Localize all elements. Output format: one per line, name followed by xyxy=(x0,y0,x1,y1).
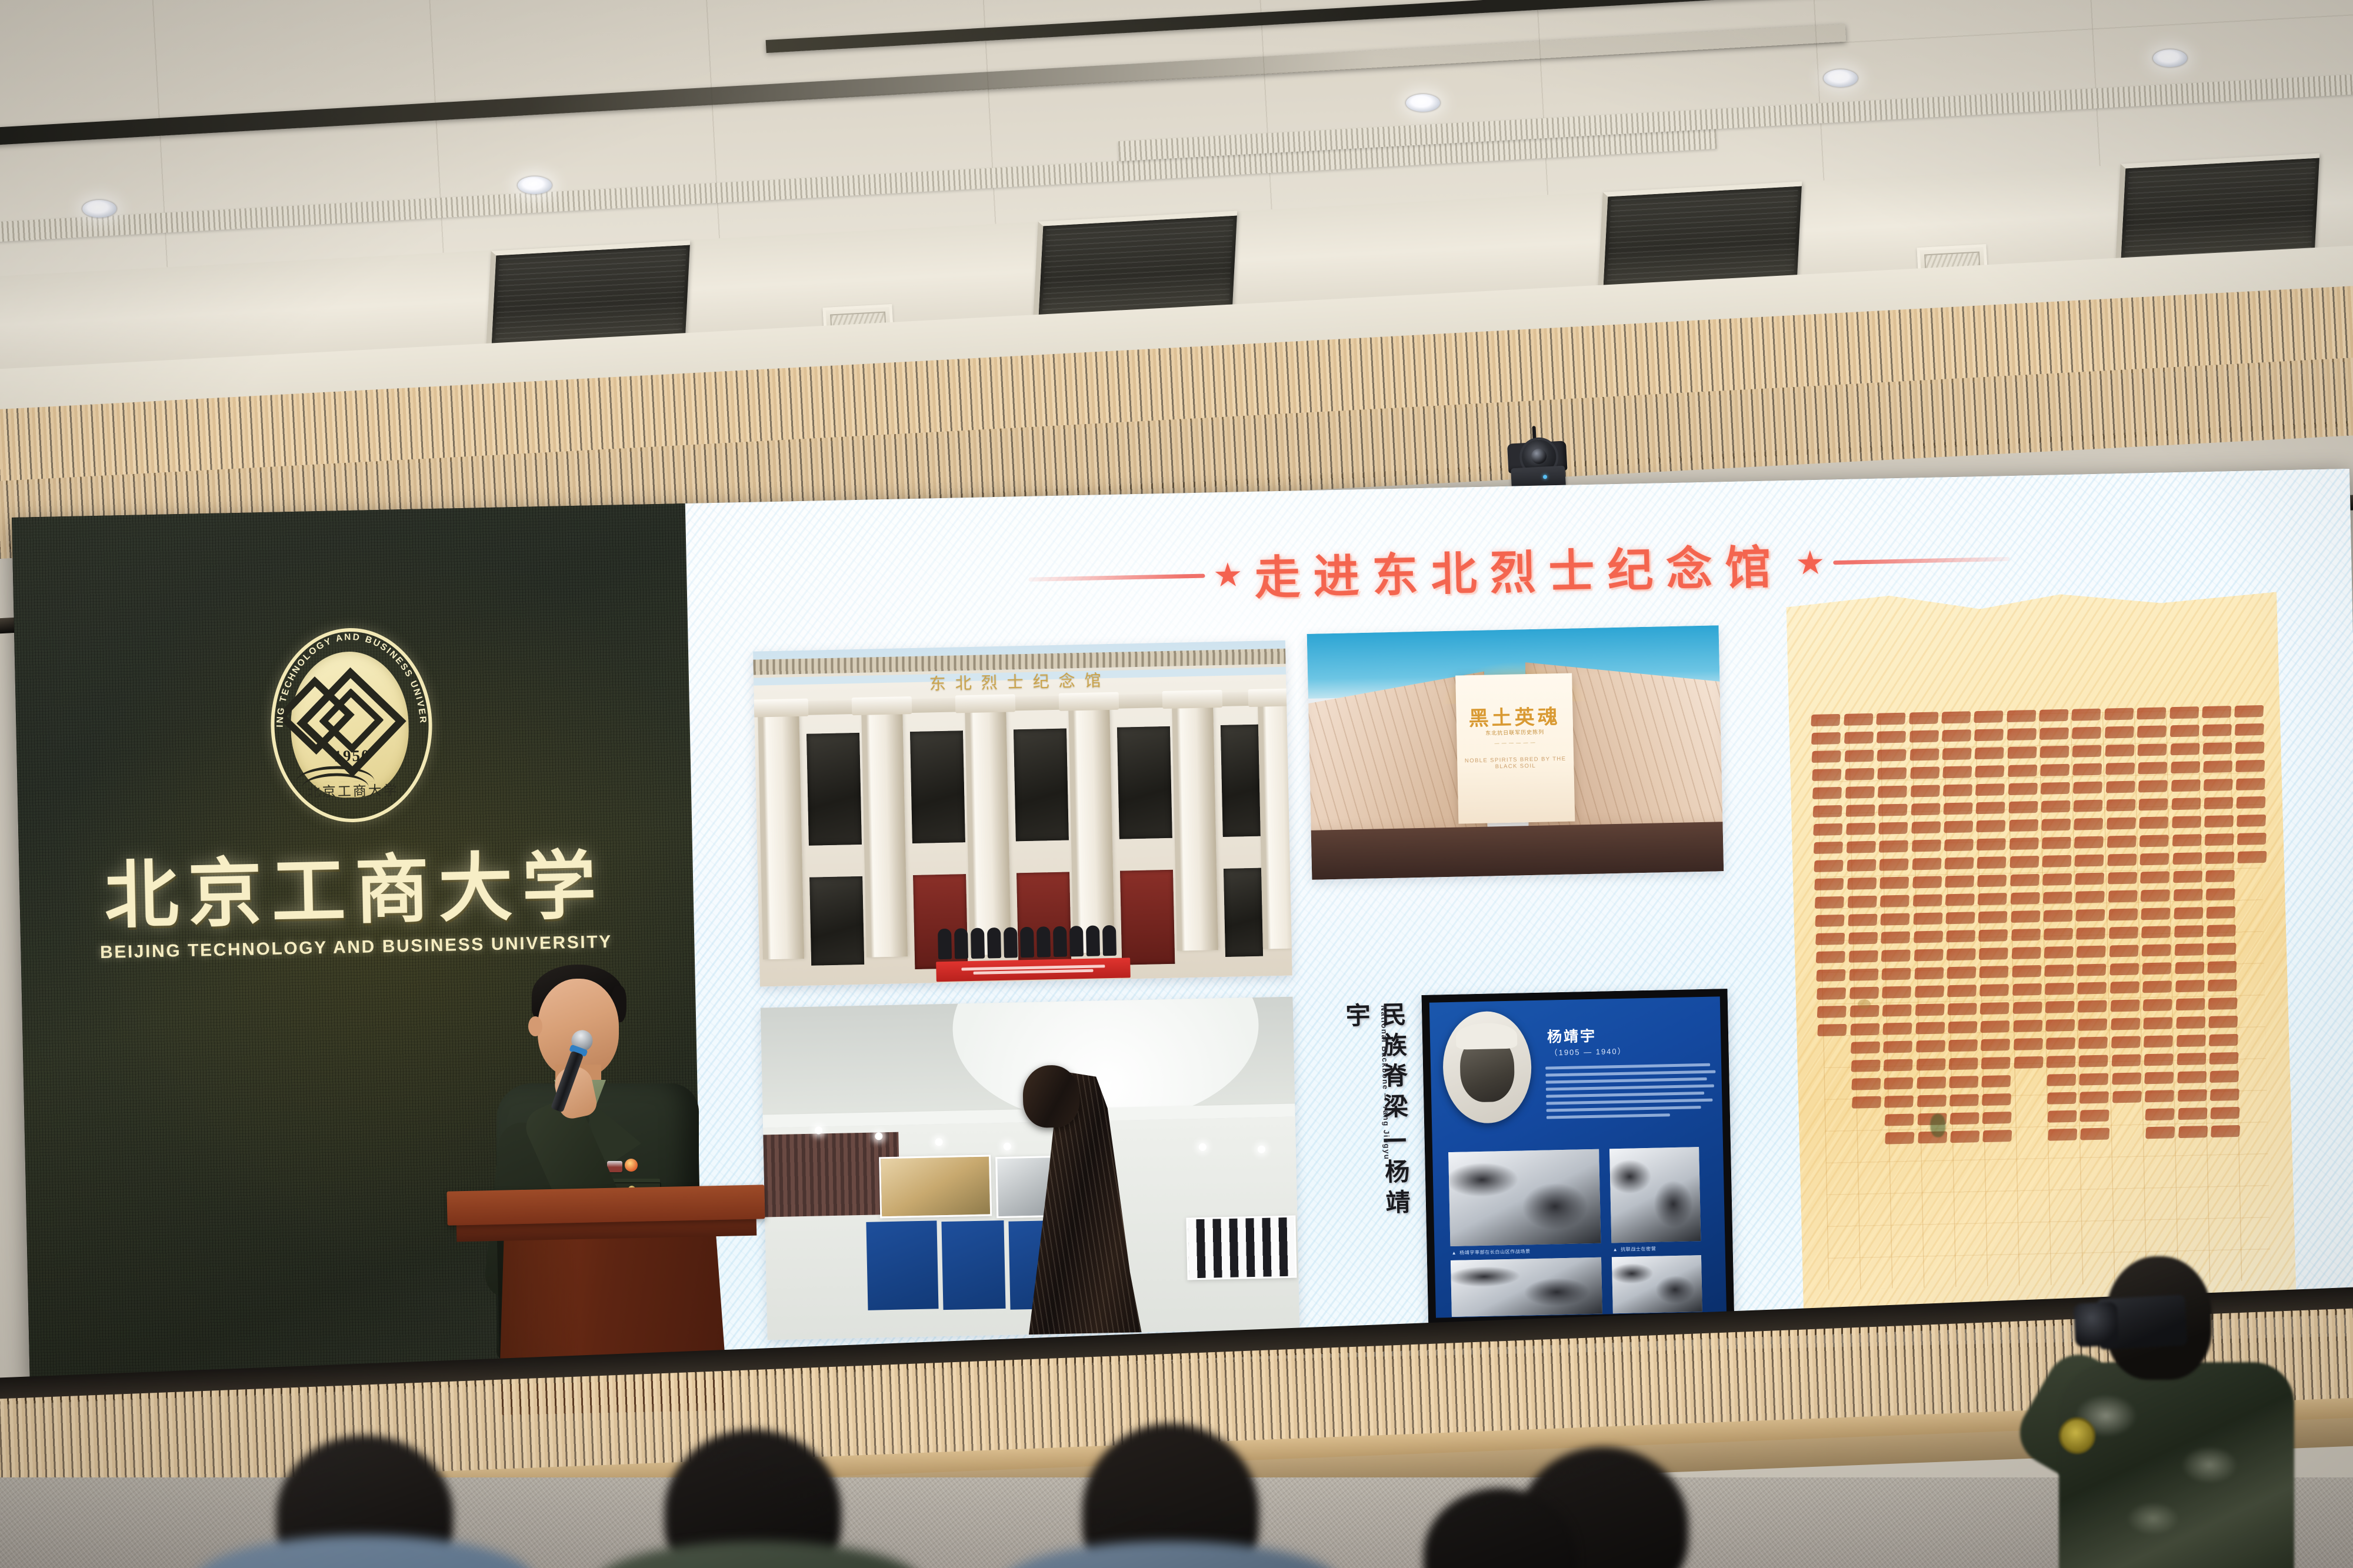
camouflage-uniform xyxy=(2059,1362,2294,1568)
archival-photo xyxy=(1451,1257,1602,1317)
photo-handwritten-letter xyxy=(1778,585,2297,1319)
slide-title: 走进东北烈士纪念馆 xyxy=(1250,531,1788,608)
archival-photo xyxy=(1609,1147,1701,1243)
martyr-name: 杨靖宇 xyxy=(1547,1025,1597,1047)
title-rule-right xyxy=(1833,556,2009,564)
star-icon-right: ★ xyxy=(1795,546,1825,579)
downlight-icon xyxy=(82,200,116,218)
red-banner xyxy=(936,958,1131,982)
downlight-icon xyxy=(1406,94,1440,112)
photo-yang-jingyu-panel: 杨靖宇 （1905 — 1940） ▲杨靖宇率部在长白山区作战场景 ▲抗联战士在… xyxy=(1422,989,1735,1326)
martyr-years: （1905 — 1940） xyxy=(1549,1045,1626,1058)
screenshot-root: 1950 北京工商大学 BEIJING TECHNOLOGY AND BUSIN… xyxy=(0,0,2353,1568)
university-seal-logo: 1950 北京工商大学 BEIJING TECHNOLOGY AND BUSIN… xyxy=(269,626,434,824)
exhibition-subtitle-cn: 东北抗日联军历史陈列 xyxy=(1457,727,1573,737)
letter-vertical-columns xyxy=(1811,702,2276,1290)
archival-photo xyxy=(1448,1149,1601,1246)
university-name-cn: 北京工商大学 xyxy=(42,848,667,935)
dslr-camera-icon xyxy=(2072,1285,2187,1356)
title-rule-left xyxy=(1028,573,1205,581)
downlight-icon xyxy=(2153,49,2187,67)
photo-memorial-hall-building: 东北烈士纪念馆 xyxy=(753,640,1292,987)
university-identity-block: 1950 北京工商大学 BEIJING TECHNOLOGY AND BUSIN… xyxy=(38,622,668,964)
seal-ring-label: BEIJING TECHNOLOGY AND BUSINESS UNIVERSI… xyxy=(266,620,428,728)
photo-exhibition-entrance: 黑土英魂 东北抗日联军历史陈列 — — — — — — NOBLE SPIRIT… xyxy=(1307,625,1724,880)
svg-text:BEIJING TECHNOLOGY AND BUSINES: BEIJING TECHNOLOGY AND BUSINESS UNIVERSI… xyxy=(266,620,428,728)
exhibition-title-cn: 黑土英魂 xyxy=(1456,700,1573,732)
downlight-icon xyxy=(1824,69,1858,87)
seal-ring-text: BEIJING TECHNOLOGY AND BUSINESS UNIVERSI… xyxy=(270,628,433,823)
star-icon-left: ★ xyxy=(1213,558,1243,592)
shoulder-patch-icon xyxy=(2059,1417,2095,1454)
downlight-icon xyxy=(518,176,552,194)
exhibition-title-panel: 黑土英魂 东北抗日联军历史陈列 — — — — — — NOBLE SPIRIT… xyxy=(1455,673,1575,824)
vertical-exhibit-label: 民族脊梁—杨靖宇 National Backbone — Yang Jingyu xyxy=(1325,1001,1419,1250)
led-video-wall[interactable]: 1950 北京工商大学 BEIJING TECHNOLOGY AND BUSIN… xyxy=(12,469,2353,1385)
round-badge-icon xyxy=(625,1159,638,1172)
archival-photo xyxy=(1612,1255,1702,1313)
exhibition-title-en: NOBLE SPIRITS BRED BY THE BLACK SOIL xyxy=(1457,755,1574,770)
vertical-label-cn: 民族脊梁—杨靖宇 xyxy=(1338,1001,1415,1249)
photographer-person xyxy=(2018,1223,2300,1568)
photo-statue-hall xyxy=(761,997,1300,1340)
archival-photo-caption: ▲抗联战士在密营 xyxy=(1613,1246,1657,1253)
martyr-biography-text xyxy=(1545,1063,1718,1123)
